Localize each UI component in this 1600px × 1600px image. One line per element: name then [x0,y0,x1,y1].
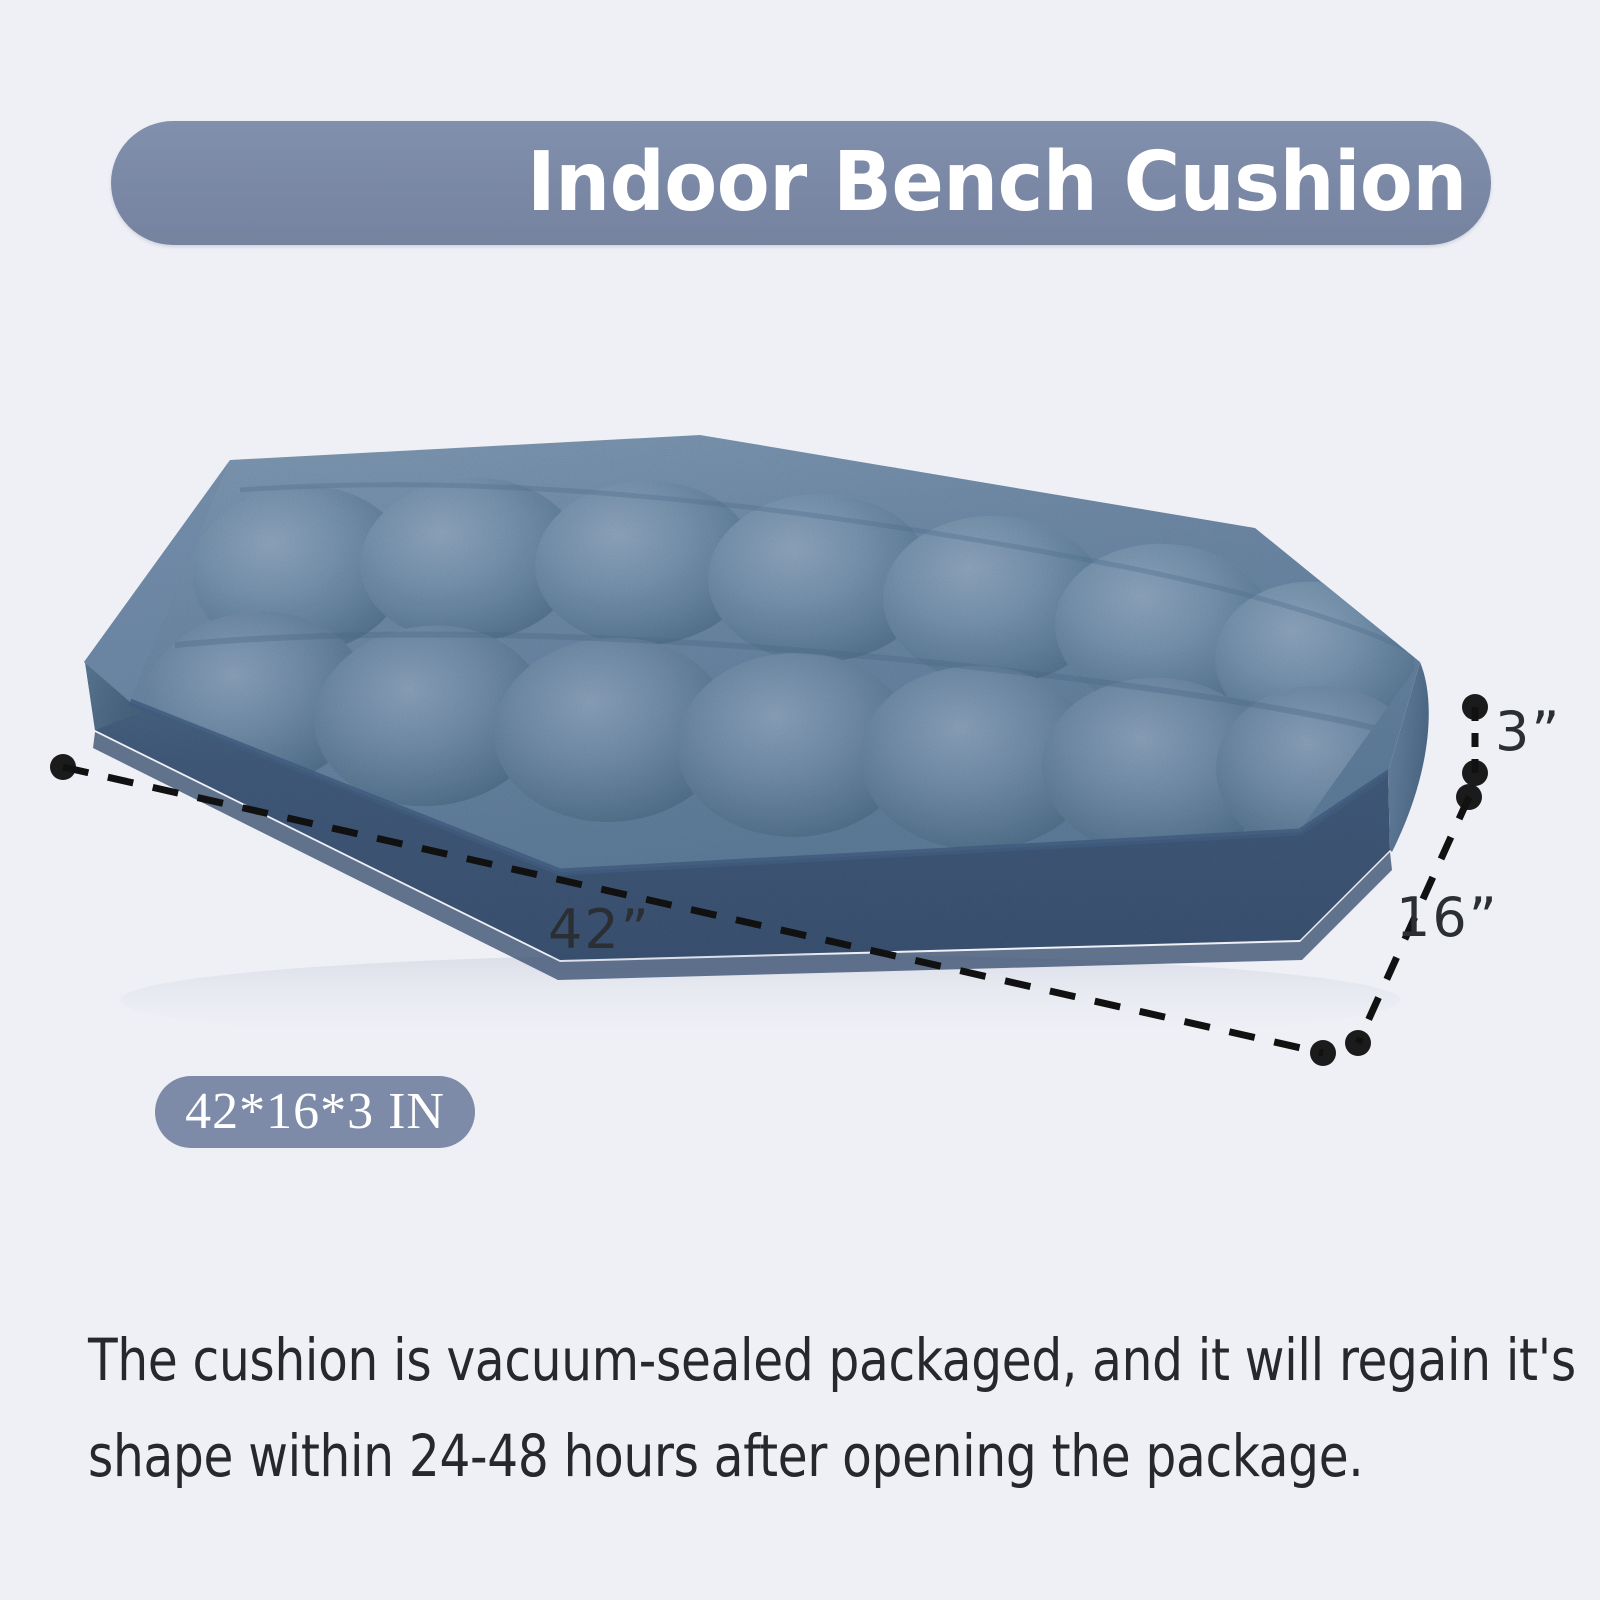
title-banner: Indoor Bench Cushion [111,121,1491,245]
caption-line-2: shape within 24-48 hours after opening t… [88,1408,1427,1504]
dimension-label-length: 42” [548,898,651,961]
dimension-label-height: 3” [1495,700,1561,763]
page-title: Indoor Bench Cushion [527,142,1467,224]
caption-block: The cushion is vacuum-sealed packaged, a… [88,1312,1528,1504]
size-badge-label: 42*16*3 IN [185,1086,445,1138]
infographic-canvas: Indoor Bench Cushion [0,0,1600,1600]
cushion-drawing [0,400,1600,1100]
caption-line-1: The cushion is vacuum-sealed packaged, a… [88,1312,1427,1408]
dimension-label-depth: 16” [1396,886,1499,949]
size-badge: 42*16*3 IN [155,1076,475,1148]
product-illustration [0,400,1600,1100]
